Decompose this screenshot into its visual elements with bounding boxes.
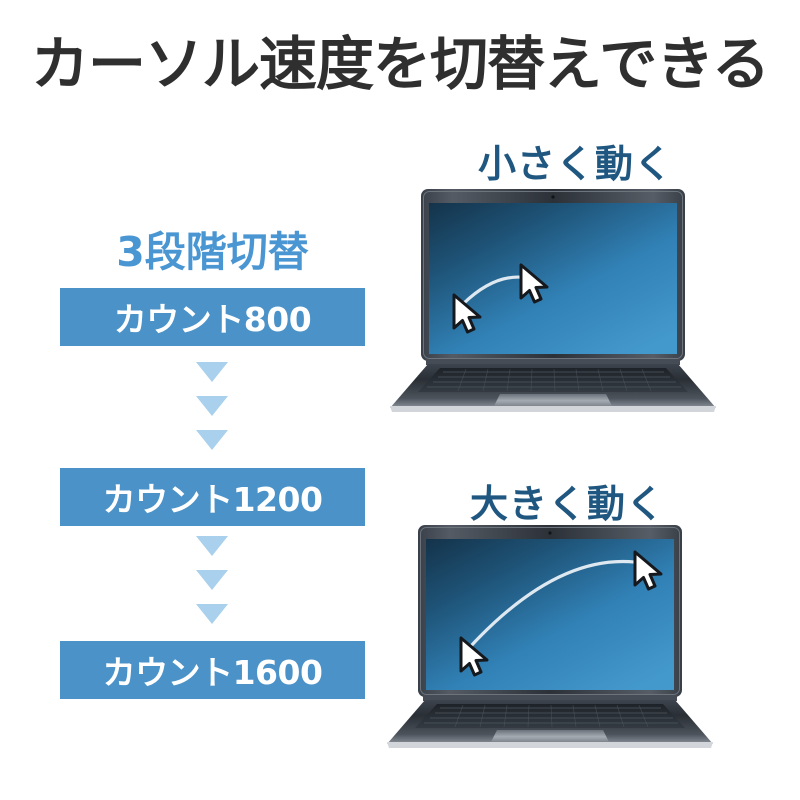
page-title: カーソル速度を切替えできる bbox=[0, 33, 800, 96]
triangle-down-icon bbox=[196, 570, 228, 590]
triangle-down-icon bbox=[196, 604, 228, 624]
count-bar-label: カウント1200 bbox=[103, 473, 323, 521]
count-bar-label: カウント1600 bbox=[103, 646, 323, 694]
infographic-page: カーソル速度を切替えできる 3段階切替 カウント800 カウント1200 カウン… bbox=[0, 0, 800, 800]
triangle-down-icon bbox=[196, 396, 228, 416]
laptop-illustration-large-motion bbox=[385, 522, 715, 757]
move-heading-small: 小さく動く bbox=[478, 133, 673, 188]
count-bar-1600: カウント1600 bbox=[60, 641, 365, 699]
triangle-down-icon bbox=[196, 536, 228, 556]
laptop-illustration-small-motion bbox=[388, 186, 718, 421]
move-heading-large: 大きく動く bbox=[470, 473, 665, 528]
count-bar-1200: カウント1200 bbox=[60, 468, 365, 526]
triangle-down-icon bbox=[196, 362, 228, 382]
triangle-down-icon bbox=[196, 430, 228, 450]
count-bar-800: カウント800 bbox=[60, 288, 365, 346]
count-bar-label: カウント800 bbox=[114, 293, 311, 341]
steps-heading: 3段階切替 bbox=[60, 218, 365, 278]
